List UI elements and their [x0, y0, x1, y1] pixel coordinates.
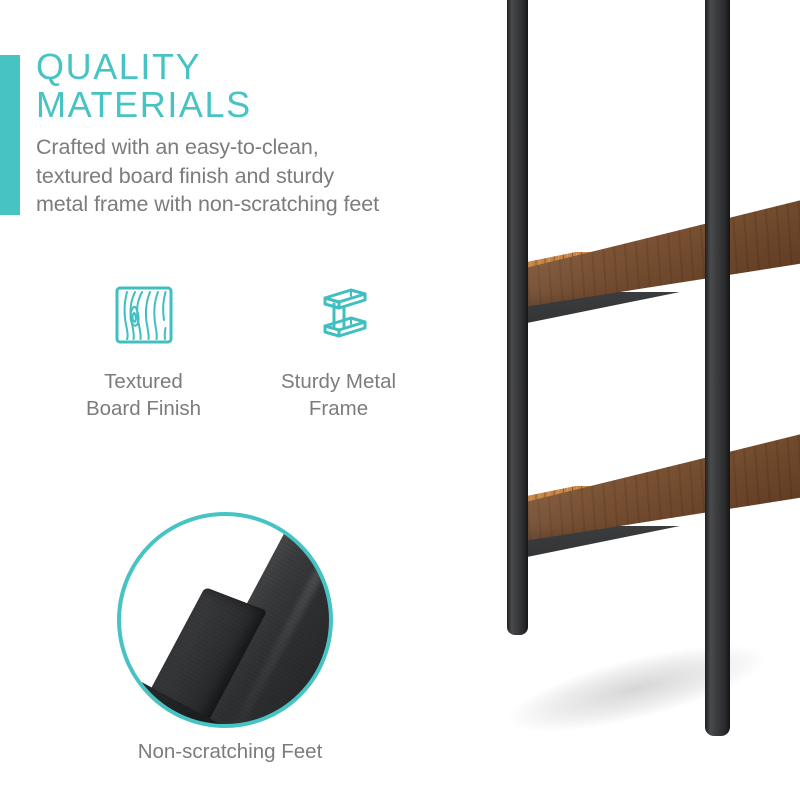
frame-post-front	[705, 0, 730, 736]
teal-accent-bar	[0, 55, 20, 215]
feature-label: Textured Board Finish	[86, 368, 201, 422]
bookshelf-corner-photo	[470, 0, 800, 800]
shelf-rail	[514, 292, 800, 412]
feature-label: Sturdy Metal Frame	[281, 368, 396, 422]
callout-photo-clip	[119, 514, 331, 726]
shelf-rail	[514, 526, 800, 646]
i-beam-icon	[307, 283, 371, 347]
frame-post-back	[507, 0, 528, 635]
info-panel: QUALITY MATERIALS Crafted with an easy-t…	[0, 0, 470, 800]
feature-row: Textured Board Finish	[46, 283, 436, 422]
feature-textured-board-finish: Textured Board Finish	[46, 283, 241, 422]
callout-caption: Non-scratching Feet	[0, 740, 460, 764]
page-subtitle: Crafted with an easy-to-clean, textured …	[36, 133, 456, 219]
marketing-image: QUALITY MATERIALS Crafted with an easy-t…	[0, 0, 800, 800]
heading-block: QUALITY MATERIALS Crafted with an easy-t…	[36, 48, 456, 219]
non-scratching-feet-callout	[117, 512, 333, 728]
page-title: QUALITY MATERIALS	[36, 48, 456, 124]
wood-grain-icon	[112, 283, 176, 347]
non-scratching-foot-photo	[119, 514, 331, 726]
feature-sturdy-metal-frame: Sturdy Metal Frame	[241, 283, 436, 422]
